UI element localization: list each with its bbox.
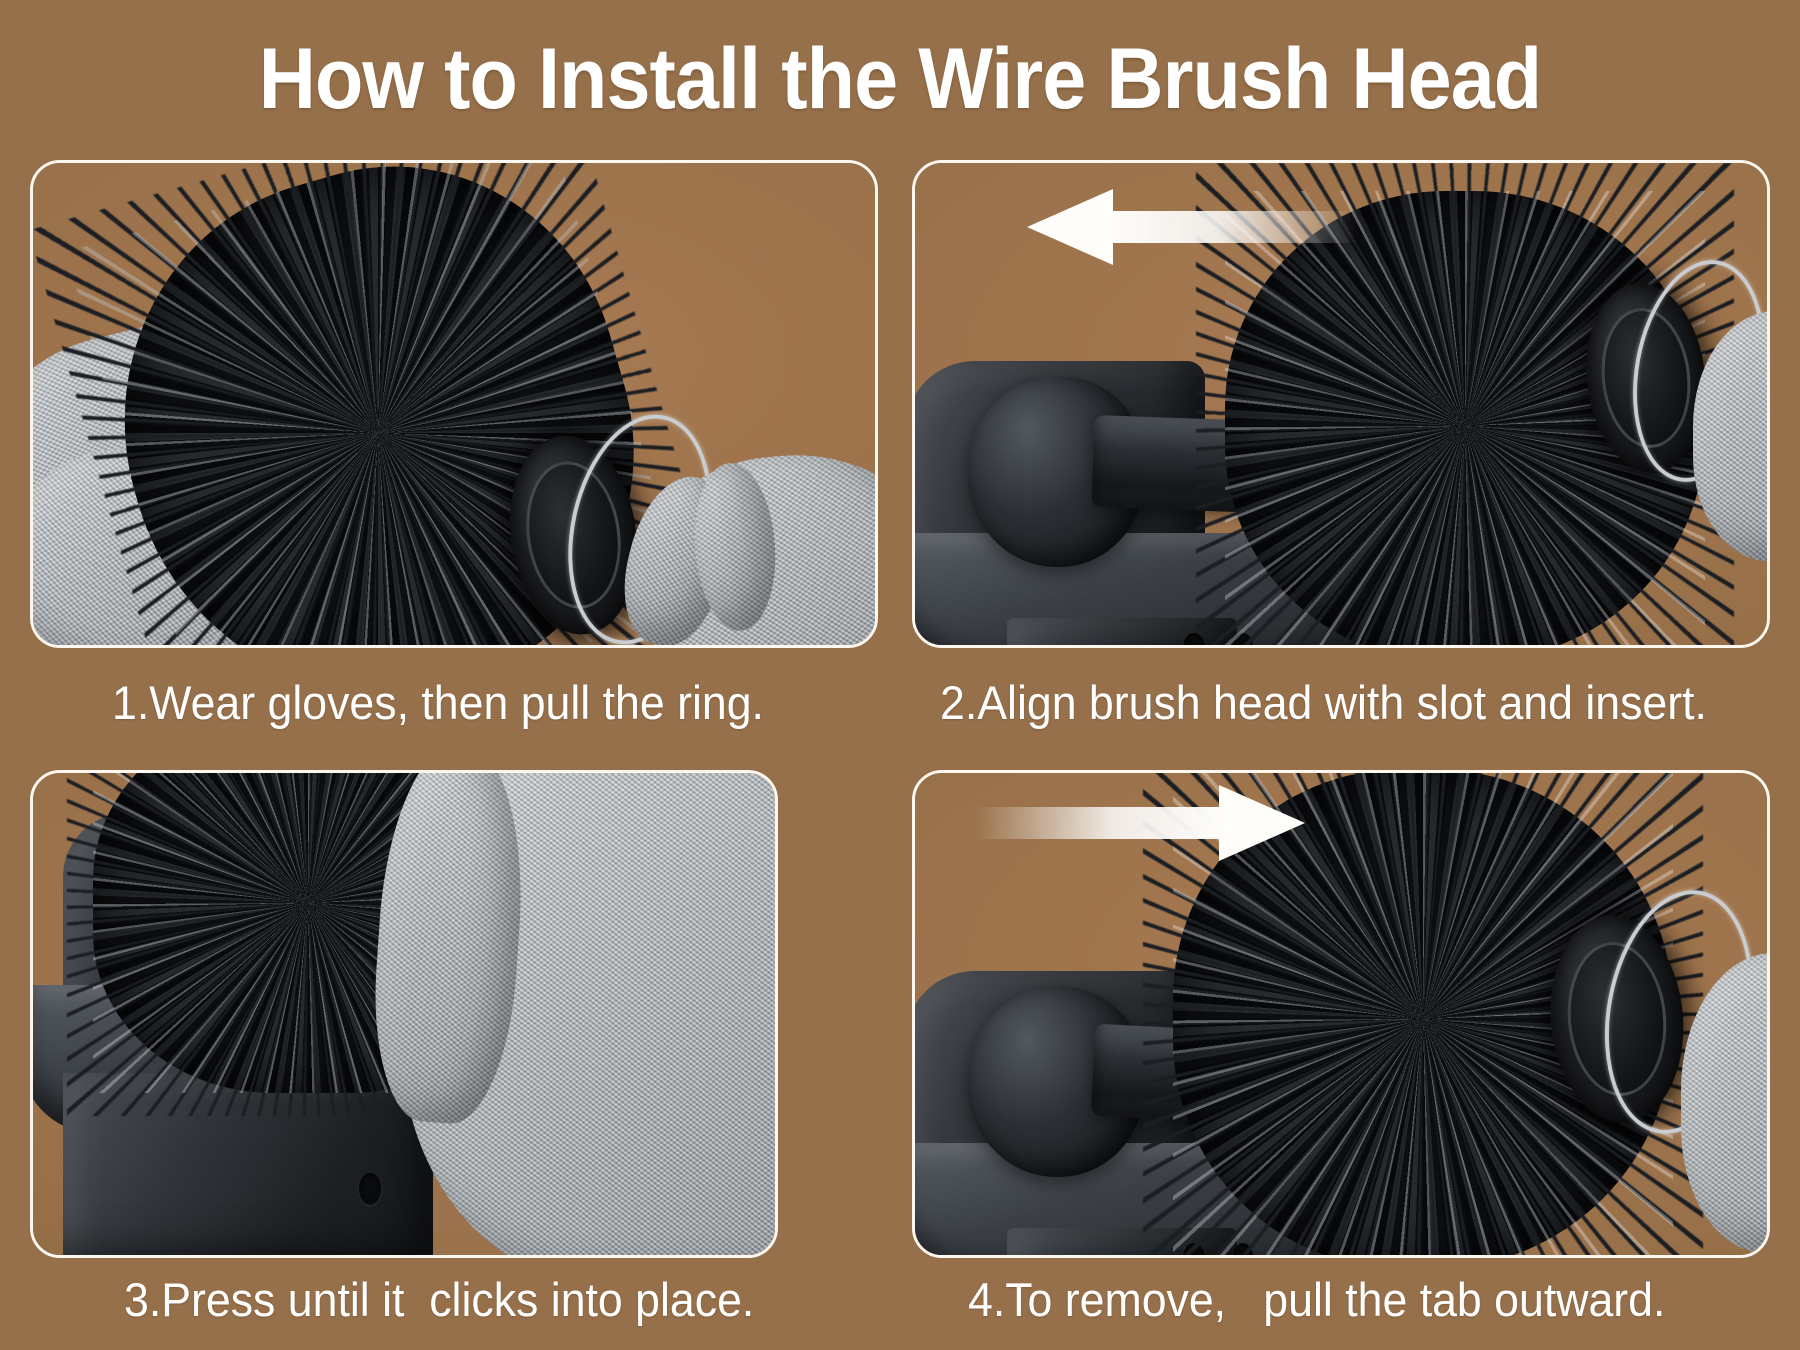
step-3-photo xyxy=(33,773,775,1255)
housing-port-hole xyxy=(359,1173,381,1205)
arrow-head xyxy=(1027,189,1113,265)
arrow-shaft xyxy=(1105,211,1357,243)
step-4-photo xyxy=(915,773,1767,1255)
page-title: How to Install the Wire Brush Head xyxy=(72,34,1728,124)
arrow-shaft xyxy=(975,807,1227,839)
step-1-caption: 1.Wear gloves, then pull the ring. xyxy=(112,675,764,730)
insert-direction-arrow xyxy=(1027,189,1357,265)
step-3-photo-panel xyxy=(30,770,778,1258)
step-4-photo-panel xyxy=(912,770,1770,1258)
step-3-caption: 3.Press until it clicks into place. xyxy=(124,1272,754,1327)
step-2-photo xyxy=(915,163,1767,645)
remove-direction-arrow xyxy=(975,785,1305,861)
step-2-caption: 2.Align brush head with slot and insert. xyxy=(940,675,1707,730)
step-1-photo xyxy=(33,163,875,645)
step-4-caption: 4.To remove, pull the tab outward. xyxy=(968,1272,1665,1327)
arrow-head xyxy=(1219,785,1305,861)
step-2-photo-panel xyxy=(912,160,1770,648)
step-1-photo-panel xyxy=(30,160,878,648)
